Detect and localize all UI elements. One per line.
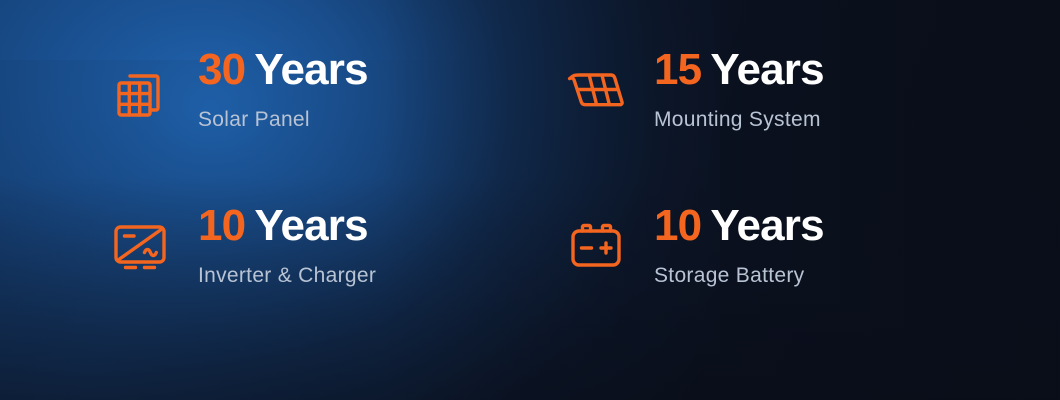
warranty-headline: 10Years [198, 204, 376, 248]
warranty-item-mounting-system: 15Years Mounting System [564, 48, 1020, 204]
warranty-subtitle: Storage Battery [654, 264, 824, 288]
warranty-item-text: 10Years Inverter & Charger [198, 204, 376, 288]
warranty-subtitle: Mounting System [654, 108, 824, 132]
warranty-unit: Years [254, 45, 367, 94]
solar-panel-icon [108, 60, 172, 124]
warranty-item-storage-battery: 10Years Storage Battery [564, 204, 1020, 360]
warranty-unit: Years [254, 201, 367, 250]
warranty-unit: Years [710, 201, 823, 250]
warranty-headline: 30Years [198, 48, 368, 92]
mounting-system-icon [564, 60, 628, 124]
storage-battery-icon [564, 216, 628, 280]
warranty-headline: 15Years [654, 48, 824, 92]
warranty-item-solar-panel: 30Years Solar Panel [108, 48, 564, 204]
warranty-number: 10 [198, 201, 245, 250]
warranty-headline: 10Years [654, 204, 824, 248]
warranty-subtitle: Solar Panel [198, 108, 368, 132]
warranty-number: 10 [654, 201, 701, 250]
warranty-number: 30 [198, 45, 245, 94]
warranty-banner: 30Years Solar Panel 15Years Mounting Sys… [0, 0, 1060, 400]
warranty-item-text: 15Years Mounting System [654, 48, 824, 132]
warranty-item-text: 30Years Solar Panel [198, 48, 368, 132]
warranty-number: 15 [654, 45, 701, 94]
warranty-item-inverter-charger: 10Years Inverter & Charger [108, 204, 564, 360]
warranty-unit: Years [710, 45, 823, 94]
inverter-charger-icon [108, 216, 172, 280]
warranty-item-text: 10Years Storage Battery [654, 204, 824, 288]
warranty-items-grid: 30Years Solar Panel 15Years Mounting Sys… [0, 0, 1060, 400]
warranty-subtitle: Inverter & Charger [198, 264, 376, 288]
